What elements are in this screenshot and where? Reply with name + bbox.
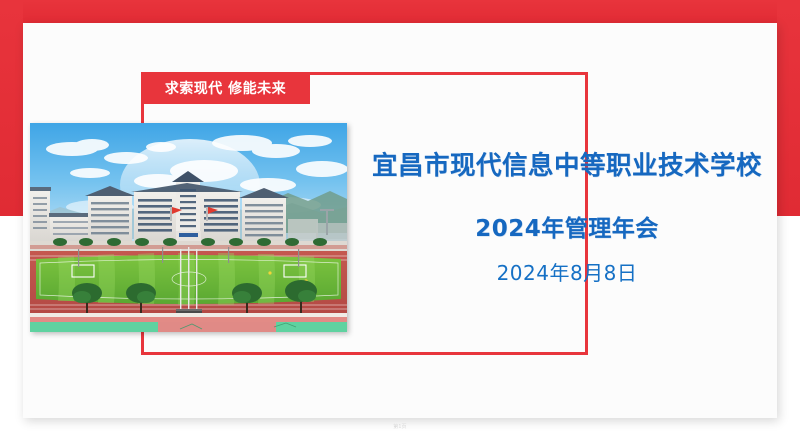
school-name: 宜昌市现代信息中等职业技术学校: [352, 152, 782, 181]
campus-photo-illustration: [30, 123, 347, 332]
title-text-block: 宜昌市现代信息中等职业技术学校 2024年管理年会 2024年8月8日: [352, 152, 782, 286]
meeting-date: 2024年8月8日: [352, 257, 782, 286]
campus-photo: [30, 123, 347, 332]
page-number: 第1页: [0, 424, 800, 430]
slogan-banner: 求索现代 修能未来: [141, 72, 310, 104]
meeting-title: 2024年管理年会: [352, 209, 782, 243]
red-band-left: [0, 0, 23, 216]
slogan-text: 求索现代 修能未来: [165, 78, 286, 98]
slide-canvas: 求索现代 修能未来 宜昌市现代信息中等职业技术学校 2024年管理年会 2024…: [0, 0, 800, 443]
red-band-top: [0, 0, 800, 23]
